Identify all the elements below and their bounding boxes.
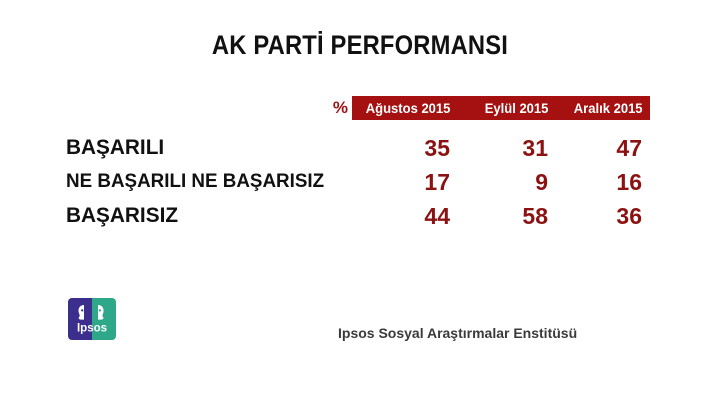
value-orta-aralik: 16 [554,169,650,196]
header-band: Ağustos 2015 Eylül 2015 Aralık 2015 [352,96,650,120]
value-orta-eylul: 9 [456,169,554,196]
row-label-basarili: BAŞARILI [66,136,164,160]
row-label-basarisiz: BAŞARISIZ [66,204,178,228]
value-basarili-eylul: 31 [456,135,554,162]
value-basarili-aralik: 47 [554,135,650,162]
page-title: AK PARTİ PERFORMANSI [43,30,677,61]
footer-source-label: Ipsos Sosyal Araştırmalar Enstitüsü [338,325,577,341]
table-row: BAŞARILI 35 31 47 [0,131,720,165]
row-values: 35 31 47 [352,135,650,162]
column-header-aralik-2015: Aralık 2015 [561,100,650,116]
table-body: BAŞARILI 35 31 47 NE BAŞARILI NE BAŞARIS… [0,131,720,233]
column-header-eylul-2015: Eylül 2015 [463,100,554,116]
value-basarisiz-eylul: 58 [456,203,554,230]
table-row: NE BAŞARILI NE BAŞARISIZ 17 9 16 [0,165,720,199]
ipsos-logo-icon: Ipsos [68,298,116,340]
value-orta-agustos: 17 [352,169,456,196]
row-values: 17 9 16 [352,169,650,196]
value-basarisiz-agustos: 44 [352,203,456,230]
table-row: BAŞARISIZ 44 58 36 [0,199,720,233]
value-basarili-agustos: 35 [352,135,456,162]
table-header-row: % Ağustos 2015 Eylül 2015 Aralık 2015 [330,96,650,120]
value-basarisiz-aralik: 36 [554,203,650,230]
row-values: 44 58 36 [352,203,650,230]
svg-text:Ipsos: Ipsos [77,323,107,335]
column-header-agustos-2015: Ağustos 2015 [359,100,456,116]
row-label-ne-basarili-ne-basarisiz: NE BAŞARILI NE BAŞARISIZ [66,171,324,193]
percent-symbol: % [330,96,352,120]
